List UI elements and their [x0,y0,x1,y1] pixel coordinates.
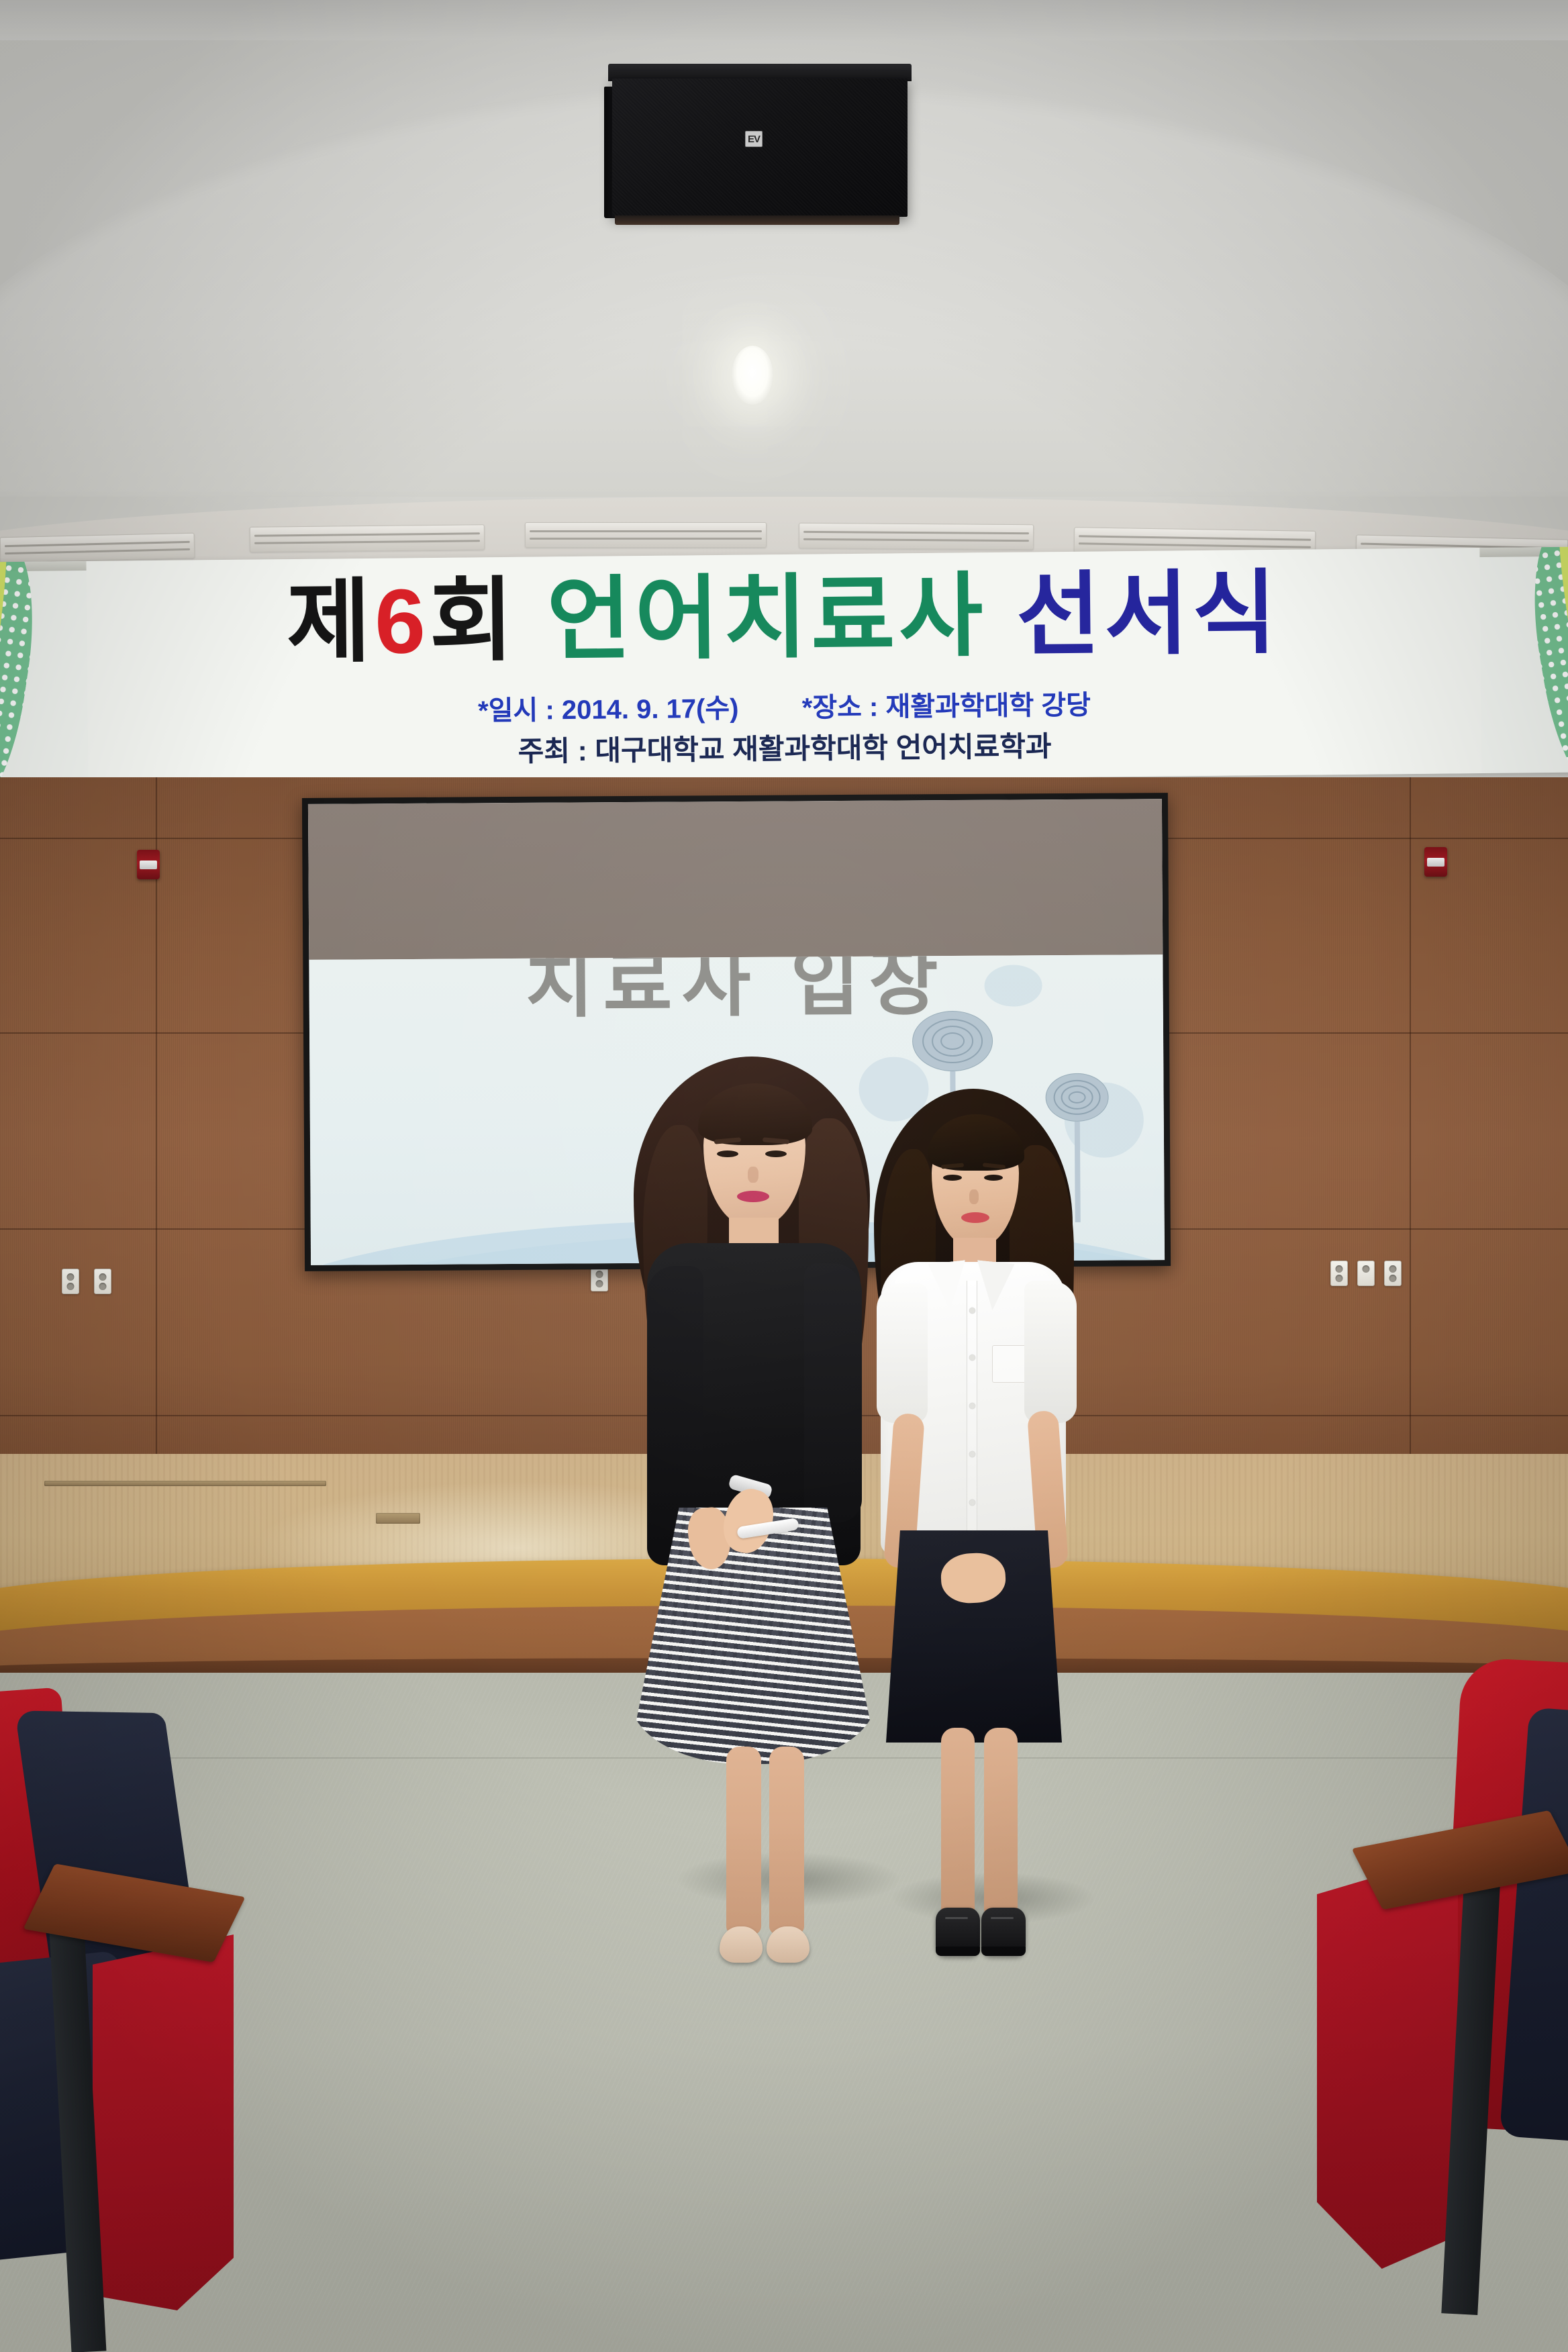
blouse-button [969,1451,975,1457]
outlet-socket-icon [596,1271,603,1278]
banner-title-part-profession: 언어치료사 [546,565,987,671]
leg-right [769,1747,804,1934]
shoe-right [767,1926,810,1963]
lips [737,1191,769,1202]
outlet-socket-icon [1336,1275,1343,1282]
nose [969,1189,979,1204]
shoe-sole [981,1947,1026,1956]
person-right [866,1079,1081,1871]
stage-floor-vent [376,1513,420,1524]
fire-alarm-strobe-icon [137,850,160,879]
person-left [624,1044,879,1863]
leg-left [941,1728,975,1917]
shoe-right [981,1908,1026,1956]
wall-outlet-plate [1384,1261,1402,1286]
auditorium-chair-right [1302,1638,1568,2352]
air-vent-grille [525,522,767,548]
eye [984,1175,1003,1181]
speaker-brand-badge: EV [745,131,763,147]
blouse-button [969,1403,975,1409]
cardigan-sleeve-right [804,1263,862,1522]
outlet-socket-icon [67,1273,75,1281]
cardigan-sleeve-left [647,1266,703,1521]
fire-alarm-strobe-icon [1424,847,1447,877]
speaker-grille: EV [612,79,908,217]
blouse-button [969,1308,975,1314]
tree-ring [940,1032,965,1050]
shoe-left [720,1926,763,1963]
outlet-socket-icon [99,1283,107,1290]
wall-panel-seam [156,777,157,1529]
wall-outlet-plate [1330,1261,1348,1286]
leg-right [984,1728,1018,1917]
outlet-socket-icon [596,1280,603,1287]
wall-outlet-plate [62,1269,79,1294]
ceiling-upper-band [0,0,1568,40]
shoe-lace-icon [945,1917,968,1919]
banner-title: 제6회 언어치료사 선서식 [87,565,1481,670]
stage-edge-strip [44,1481,326,1486]
ceremony-photograph: EV 제6회 언어치료사 선서식 *일시 : 2 [0,0,1568,2352]
wall-outlet-plate [1357,1261,1375,1286]
blouse-button [969,1500,975,1506]
chair-side-panel [93,1934,234,2310]
banner-decoration-right [1486,547,1568,788]
shoe-sole [936,1947,980,1956]
air-vent-grille [250,524,485,552]
banner-halftone-dots [1518,547,1568,788]
eye [717,1150,738,1157]
air-vent-grille [799,523,1034,550]
banner-title-part-hoe: 회 [429,569,518,672]
shoe-lace-icon [991,1917,1014,1919]
nose [748,1167,758,1183]
banner-title-part-ceremony: 선서식 [1016,562,1281,667]
banner-title-part-number: 6 [374,570,430,673]
blouse-sleeve-right [1024,1281,1077,1423]
recessed-downlight-icon [732,346,773,405]
eye [943,1175,962,1181]
chair-side-panel [1317,1853,1458,2269]
event-banner: 제6회 언어치료사 선서식 *일시 : 2014. 9. 17(수) *장소 :… [0,547,1568,788]
outlet-socket-icon [99,1273,107,1281]
leg-left [726,1747,761,1934]
unprojected-band [308,799,1163,960]
banner-title-part-je: 제 [286,571,375,673]
outlet-socket-icon [1389,1275,1397,1282]
shoe-left [936,1908,980,1956]
outlet-socket-icon [67,1283,75,1290]
slide-decor-blob [984,965,1042,1007]
air-vent-grille [0,533,195,563]
banner-halftone-dots [0,547,47,788]
wall-outlet-plate [591,1266,608,1291]
ceiling-speaker: EV [604,64,914,232]
outlet-socket-icon [1389,1265,1397,1273]
outlet-socket-icon [1363,1265,1370,1273]
blouse-sleeve-left [877,1283,928,1423]
outlet-socket-icon [1336,1265,1343,1273]
slide-title: 치료사 입장 [524,954,948,1032]
banner-decoration-left [0,547,82,788]
banner-place-label: *장소 : 재활과학대학 강당 [802,691,1091,723]
wall-panel-seam [1410,777,1411,1529]
auditorium-chair-left [0,1671,255,2352]
banner-subline-gap [746,717,795,718]
speaker-base [615,215,899,225]
banner-date-label: *일시 : 2014. 9. 17(수) [478,694,739,726]
blouse-button [969,1355,975,1361]
lips [961,1212,989,1223]
blouse-button-placket [967,1281,977,1552]
eye [765,1150,787,1157]
banner-body: 제6회 언어치료사 선서식 *일시 : 2014. 9. 17(수) *장소 :… [86,548,1481,787]
wall-outlet-plate [94,1269,111,1294]
